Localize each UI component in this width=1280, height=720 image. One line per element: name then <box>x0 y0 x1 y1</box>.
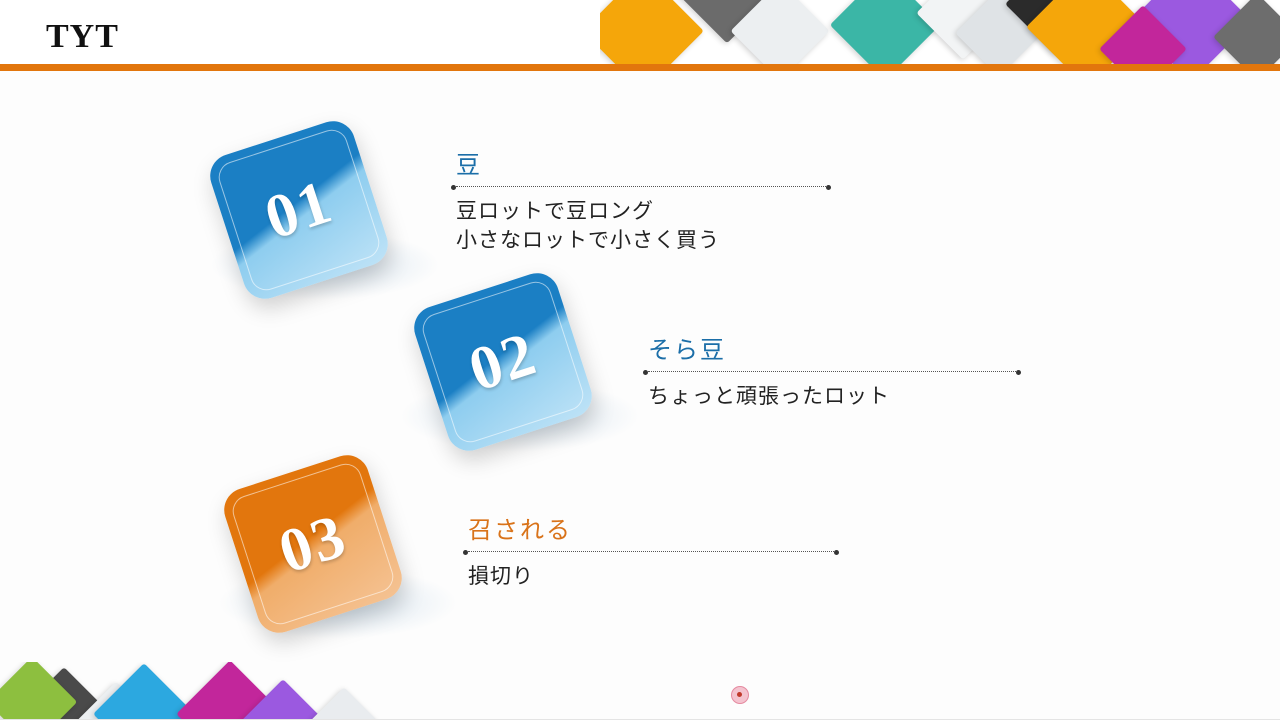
badge-number: 03 <box>218 449 407 638</box>
step-entry-03: 召される 損切り <box>468 510 834 591</box>
step-body-line: 豆ロットで豆ロング <box>456 197 826 226</box>
step-body-line: 損切り <box>468 562 834 591</box>
step-badge-03: 03 <box>218 449 407 638</box>
step-badge-02: 02 <box>408 267 597 456</box>
recording-indicator-icon <box>731 686 749 704</box>
step-heading: 召される <box>468 510 834 545</box>
slide-header: TYT <box>0 0 1280 70</box>
top-decoration <box>600 0 1280 70</box>
step-divider <box>456 186 826 188</box>
step-body-line: ちょっと頑張ったロット <box>648 382 1016 411</box>
header-accent-rule <box>0 64 1280 71</box>
step-entry-01: 豆 豆ロットで豆ロング 小さなロットで小さく買う <box>456 145 826 255</box>
bottom-decoration <box>0 662 420 720</box>
step-body-line: 小さなロットで小さく買う <box>456 226 826 255</box>
step-heading: そら豆 <box>648 330 1016 365</box>
step-entry-02: そら豆 ちょっと頑張ったロット <box>648 330 1016 411</box>
decor-diamond <box>307 687 381 720</box>
slide: TYT 01 02 03 豆 豆ロットで豆ロング 小さなロットで小さく買う <box>0 0 1280 720</box>
step-badge-01: 01 <box>204 115 393 304</box>
badge-number: 01 <box>204 115 393 304</box>
slide-body: 01 02 03 豆 豆ロットで豆ロング 小さなロットで小さく買う そら豆 ちょ… <box>0 75 1280 665</box>
step-divider <box>468 551 834 553</box>
decor-diamond <box>600 0 704 70</box>
step-divider <box>648 371 1016 373</box>
badge-number: 02 <box>408 267 597 456</box>
page-title: TYT <box>46 18 119 56</box>
step-heading: 豆 <box>456 145 826 180</box>
